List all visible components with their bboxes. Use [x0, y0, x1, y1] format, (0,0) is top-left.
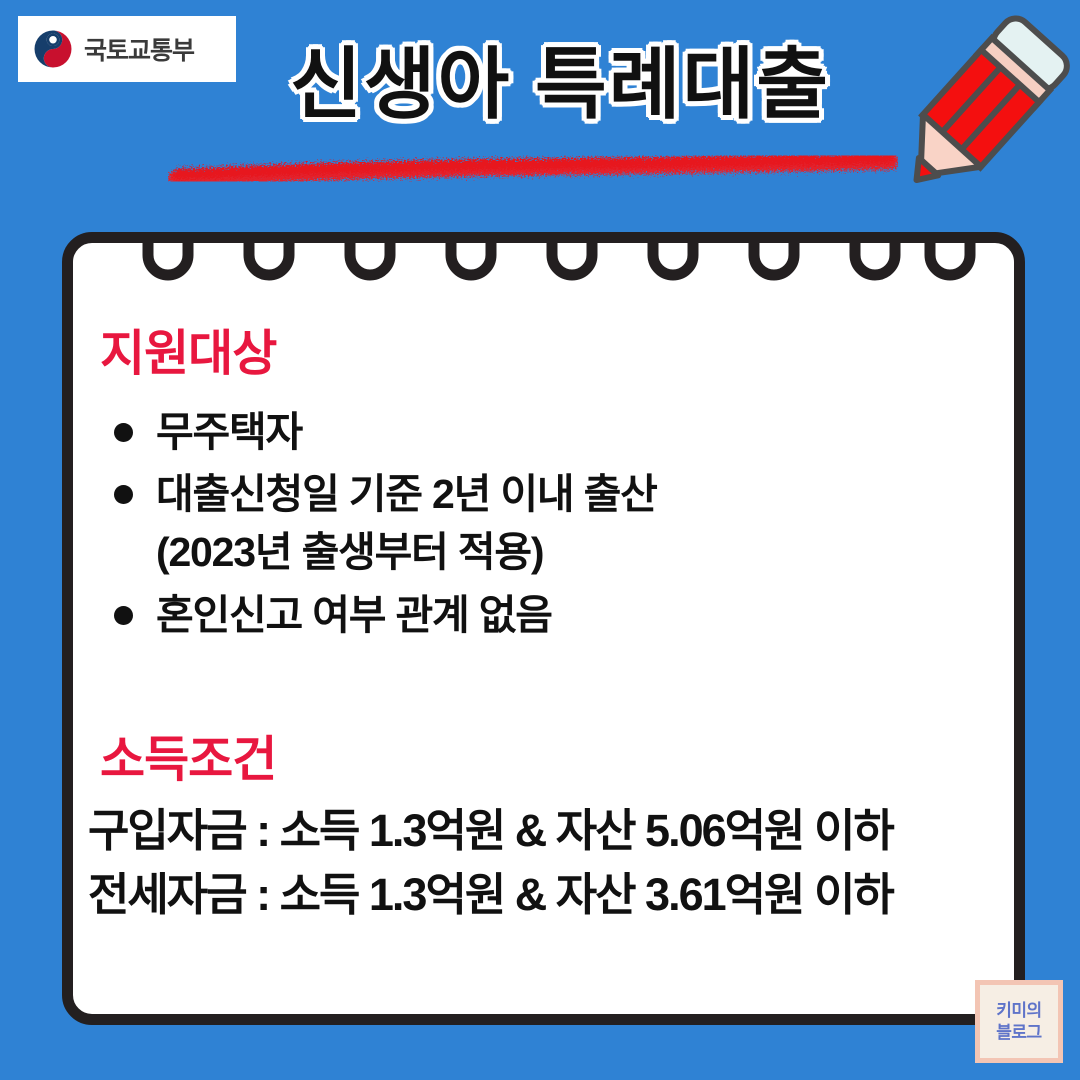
list-item: 혼인신고 여부 관계 없음 — [100, 586, 1000, 644]
taegeuk-icon — [32, 28, 74, 70]
section-heading-support-target: 지원대상 — [100, 330, 1000, 379]
red-pencil-icon — [880, 8, 1080, 213]
list-item-text: 무주택자 — [156, 409, 302, 455]
list-item-subtext: (2023년 출생부터 적용) — [156, 523, 1000, 581]
income-line-jeonse: 전세자금 : 소득 1.3억원 & 자산 3.61억원 이하 — [88, 863, 1000, 927]
bullet-dot-icon — [114, 606, 133, 625]
list-item: 무주택자 — [100, 403, 1000, 461]
page-title: 신생아 특례대출 — [250, 44, 870, 126]
bullet-dot-icon — [114, 423, 133, 442]
red-crayon-underline-icon — [168, 152, 898, 194]
agency-name: 국토교통부 — [84, 31, 194, 67]
header-banner: 국토교통부 신생아 특례대출 — [0, 0, 1080, 225]
list-item: 대출신청일 기준 2년 이내 출산 (2023년 출생부터 적용) — [100, 465, 1000, 581]
watermark-line-1: 키미의 — [996, 1000, 1041, 1021]
section-heading-income-condition: 소득조건 — [100, 736, 1000, 785]
income-line-purchase: 구입자금 : 소득 1.3억원 & 자산 5.06억원 이하 — [88, 799, 1000, 863]
support-target-list: 무주택자 대출신청일 기준 2년 이내 출산 (2023년 출생부터 적용) 혼… — [100, 403, 1000, 644]
watermark-line-2: 블로그 — [996, 1022, 1041, 1043]
title-wrapper: 신생아 특례대출 — [250, 44, 870, 126]
bullet-dot-icon — [114, 485, 133, 504]
list-item-text: 혼인신고 여부 관계 없음 — [156, 592, 552, 638]
income-condition-block: 소득조건 구입자금 : 소득 1.3억원 & 자산 5.06억원 이하 전세자금… — [100, 736, 1000, 927]
government-logo: 국토교통부 — [18, 16, 236, 82]
card-content: 지원대상 무주택자 대출신청일 기준 2년 이내 출산 (2023년 출생부터 … — [100, 330, 1000, 927]
blog-watermark: 키미의 블로그 — [975, 980, 1063, 1063]
list-item-text: 대출신청일 기준 2년 이내 출산 — [156, 471, 657, 517]
